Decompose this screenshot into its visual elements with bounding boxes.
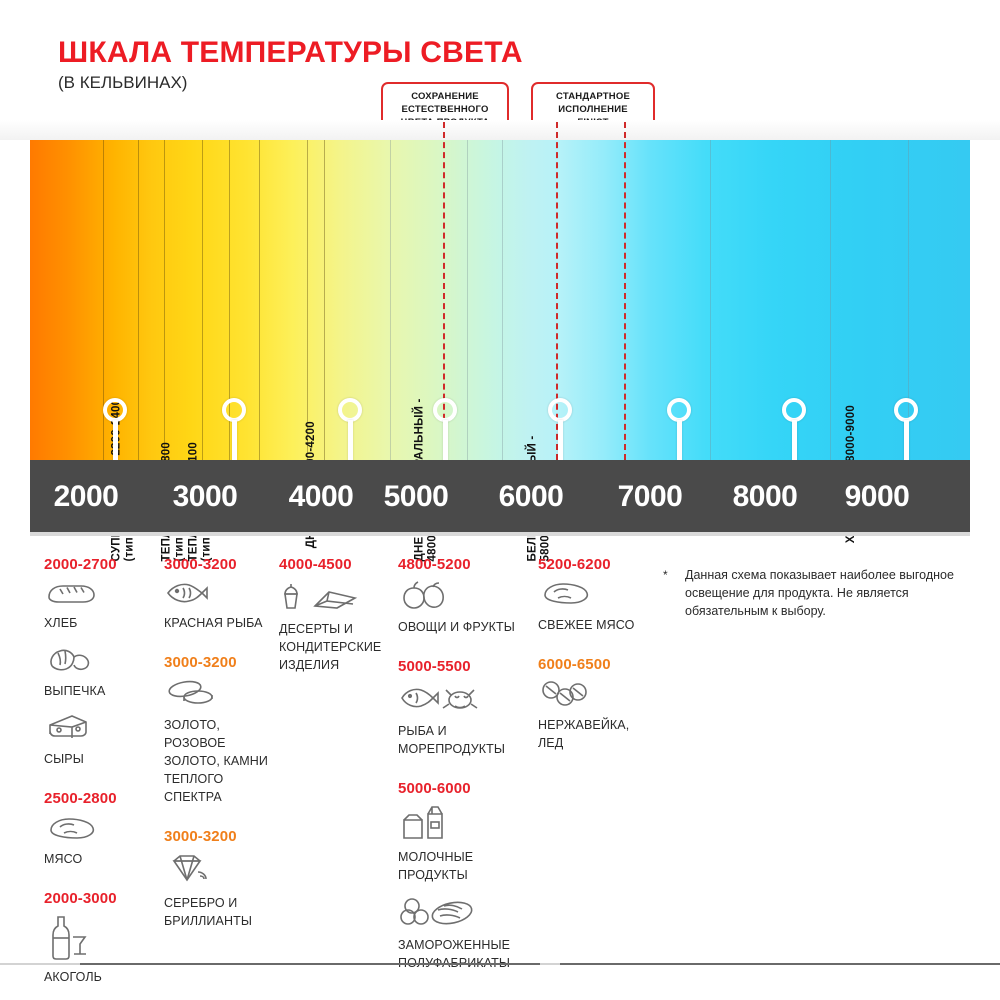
item-label: КРАСНАЯ РЫБА (164, 616, 263, 630)
item-label: РЫБА И МОРЕПРОДУКТЫ (398, 724, 505, 756)
band-divider (390, 140, 391, 460)
product-column-4: 4800-5200 ОВОЩИ И ФРУКТЫ 5000-5500 (398, 556, 538, 984)
spacer (44, 780, 159, 790)
product-column-3: 4000-4500 ДЕСЕРТЫ И КОНДИТЕРСКИЕ ИЗДЕЛИЯ (279, 556, 397, 686)
list-item: МОЛОЧНЫЕ ПРОДУКТЫ (398, 804, 538, 884)
callout-line: ЕСТЕСТВЕННОГО (391, 104, 499, 117)
steak-icon (44, 814, 159, 847)
band-divider (259, 140, 260, 460)
range-label: 3000-3200 (164, 556, 279, 573)
band-divider (467, 140, 468, 460)
spacer (398, 770, 538, 780)
list-item: ЗОЛОТО, РОЗОВОЕ ЗОЛОТО, КАМНИ ТЕПЛОГО СП… (164, 678, 279, 806)
list-item: ДЕСЕРТЫ И КОНДИТЕРСКИЕ ИЗДЕЛИЯ (279, 580, 397, 674)
pin-ring-icon (103, 398, 127, 422)
item-label: СЫРЫ (44, 752, 84, 766)
band-divider (324, 140, 325, 460)
item-label: ОВОЩИ И ФРУКТЫ (398, 620, 515, 634)
infographic-page: ШКАЛА ТЕМПЕРАТУРЫ СВЕТА (В КЕЛЬВИНАХ) СО… (0, 0, 1000, 1000)
list-item: СВЕЖЕЕ МЯСО (538, 580, 658, 634)
pin-ring-icon (338, 398, 362, 422)
list-item: НЕРЖАВЕЙКА, ЛЕД (538, 680, 658, 752)
pin-ring-icon (667, 398, 691, 422)
band-divider (138, 140, 139, 460)
band-divider (202, 140, 203, 460)
header-fade (0, 120, 1000, 140)
scale-tick-7000: 7000 (595, 480, 705, 514)
range-label: 4000-4500 (279, 556, 397, 573)
item-label: СЕРЕБРО И БРИЛЛИАНТЫ (164, 896, 252, 928)
page-title: ШКАЛА ТЕМПЕРАТУРЫ СВЕТА (58, 36, 523, 70)
range-label: 2000-3000 (44, 890, 159, 907)
bottom-divider-segment (560, 963, 1000, 965)
band-divider (710, 140, 711, 460)
pin-ring-icon (548, 398, 572, 422)
dashed-marker-finist-b (624, 122, 626, 460)
band-divider (502, 140, 503, 460)
cheese-icon (44, 712, 159, 747)
product-column-5: 5200-6200 СВЕЖЕЕ МЯСО 6000-6500 (538, 556, 658, 764)
bread-icon (44, 580, 159, 611)
item-label: НЕРЖАВЕЙКА, ЛЕД (538, 718, 629, 750)
gradient-band (30, 140, 970, 460)
spacer (538, 646, 658, 656)
callout-line: СТАНДАРТНОЕ (541, 91, 645, 104)
pin-ring-icon (782, 398, 806, 422)
callout-line: СОХРАНЕНИЕ (391, 91, 499, 104)
band-divider (307, 140, 308, 460)
ice-icon (538, 680, 658, 713)
range-label: 6000-6500 (538, 656, 658, 673)
list-item: МЯСО (44, 814, 159, 868)
fruit-icon (398, 580, 538, 615)
item-label: ХЛЕБ (44, 616, 77, 630)
scale-tick-9000: 9000 (822, 480, 932, 514)
seafood-icon (398, 682, 538, 719)
band-divider (830, 140, 831, 460)
range-label: 5000-5500 (398, 658, 538, 675)
product-column-1: 2000-2700 ХЛЕБ (44, 556, 159, 998)
pin-ring-icon (222, 398, 246, 422)
page-subtitle: (В КЕЛЬВИНАХ) (58, 73, 187, 93)
scale-tick-4000: 4000 (266, 480, 376, 514)
list-item: СЫРЫ (44, 712, 159, 768)
list-item: КРАСНАЯ РЫБА (164, 580, 279, 632)
range-label: 2500-2800 (44, 790, 159, 807)
pin-ring-icon (894, 398, 918, 422)
spacer (164, 818, 279, 828)
range-label: 5000-6000 (398, 780, 538, 797)
scale-tick-5000: 5000 (361, 480, 471, 514)
bottom-divider-segment (80, 963, 540, 965)
spacer (164, 644, 279, 654)
rings-icon (164, 678, 279, 713)
spacer (398, 648, 538, 658)
cake-icon (279, 580, 397, 617)
list-item: ХЛЕБ (44, 580, 159, 632)
footnote: * Данная схема показывает наиболее выгод… (663, 566, 983, 620)
item-label: ВЫПЕЧКА (44, 684, 105, 698)
scale-tick-3000: 3000 (150, 480, 260, 514)
fresh-meat-icon (538, 580, 658, 613)
list-item: РЫБА И МОРЕПРОДУКТЫ (398, 682, 538, 758)
scale-tick-8000: 8000 (710, 480, 820, 514)
item-label: АКОГОЛЬ (44, 970, 102, 984)
item-label: МОЛОЧНЫЕ ПРОДУКТЫ (398, 850, 473, 882)
scale-tick-6000: 6000 (476, 480, 586, 514)
list-item: СЕРЕБРО И БРИЛЛИАНТЫ (164, 852, 279, 930)
list-item: АКОГОЛЬ (44, 914, 159, 986)
frozen-icon (398, 896, 538, 933)
bottom-divider (0, 963, 1000, 965)
alcohol-icon (44, 914, 159, 965)
footnote-asterisk: * (663, 567, 668, 584)
item-label: МЯСО (44, 852, 82, 866)
milk-icon (398, 804, 538, 845)
scale-tick-2000: 2000 (31, 480, 141, 514)
list-item: ЗАМОРОЖЕННЫЕ ПОЛУФАБРИКАТЫ (398, 896, 538, 972)
range-label: 3000-3200 (164, 654, 279, 671)
callout-line: ИСПОЛНЕНИЕ (541, 104, 645, 117)
range-label: 5200-6200 (538, 556, 658, 573)
list-item: ВЫПЕЧКА (44, 644, 159, 700)
pin-ring-icon (433, 398, 457, 422)
item-label: ДЕСЕРТЫ И КОНДИТЕРСКИЕ ИЗДЕЛИЯ (279, 622, 381, 672)
footnote-text: Данная схема показывает наиболее выгодно… (685, 566, 983, 620)
spacer (44, 880, 159, 890)
range-label: 4800-5200 (398, 556, 538, 573)
list-item: ОВОЩИ И ФРУКТЫ (398, 580, 538, 636)
range-label: 3000-3200 (164, 828, 279, 845)
fish-icon (164, 580, 279, 611)
range-label: 2000-2700 (44, 556, 159, 573)
temperature-gradient-scale: СУПЕР ТЕПЛЫЙ - 2200-2400 (тип К 2400) ТЕ… (30, 140, 970, 460)
diamond-icon (164, 852, 279, 891)
product-column-2: 3000-3200 КРАСНАЯ РЫБА 3000-3200 (164, 556, 279, 942)
band-divider (164, 140, 165, 460)
croissant-icon (44, 644, 159, 679)
item-label: ЗАМОРОЖЕННЫЕ ПОЛУФАБРИКАТЫ (398, 938, 510, 970)
item-label: СВЕЖЕЕ МЯСО (538, 618, 634, 632)
item-label: ЗОЛОТО, РОЗОВОЕ ЗОЛОТО, КАМНИ ТЕПЛОГО СП… (164, 718, 268, 804)
